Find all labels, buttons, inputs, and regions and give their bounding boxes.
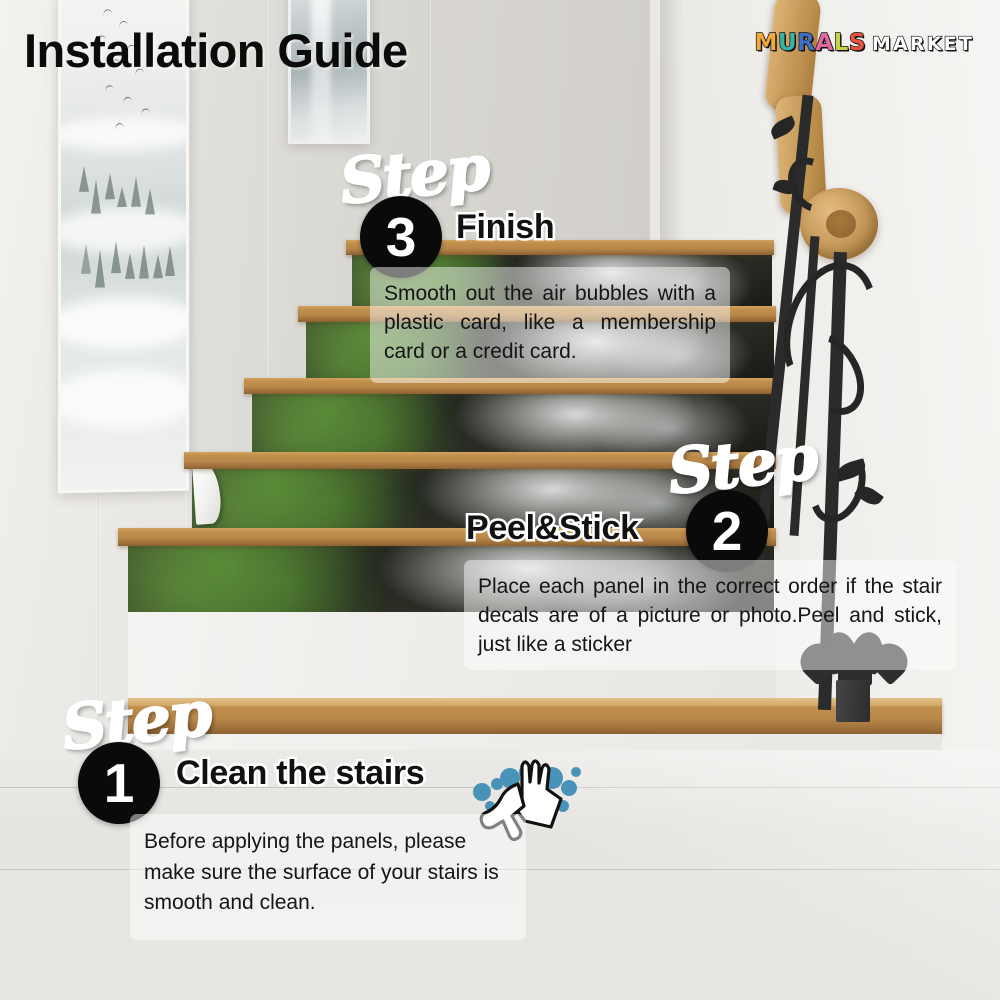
step-1-description: Before applying the panels, please make … (130, 814, 526, 940)
newel-post-foot (836, 680, 870, 722)
brand-letter-a: A (815, 30, 833, 56)
step-3-description: Smooth out the air bubbles with a plasti… (370, 267, 730, 383)
brand-logo: MURALS MARKET (755, 30, 974, 56)
handrail-volute-core (826, 210, 856, 238)
infographic-canvas: Installation Guide MURALS MARKET Step 3 … (0, 0, 1000, 1000)
step-2-heading: Peel&Stick (466, 509, 639, 548)
brand-letter-r: R (797, 30, 815, 56)
brand-logo-murals: MURALS (755, 30, 866, 56)
step-3-heading: Finish (456, 208, 554, 247)
stair-tread (118, 528, 776, 546)
step-3-number-badge: 3 (360, 196, 442, 278)
brand-logo-market: MARKET (872, 33, 974, 55)
step-1-number-badge: 1 (78, 742, 160, 824)
brand-letter-s: S (849, 30, 866, 56)
step-1-heading: Clean the stairs (176, 754, 424, 793)
floor-reflection (520, 750, 1000, 1000)
page-title: Installation Guide (24, 23, 408, 78)
brand-letter-l: L (834, 30, 849, 56)
brand-letter-m: M (755, 30, 778, 56)
step-2-description: Place each panel in the correct order if… (464, 560, 956, 670)
brand-letter-u: U (778, 30, 797, 56)
